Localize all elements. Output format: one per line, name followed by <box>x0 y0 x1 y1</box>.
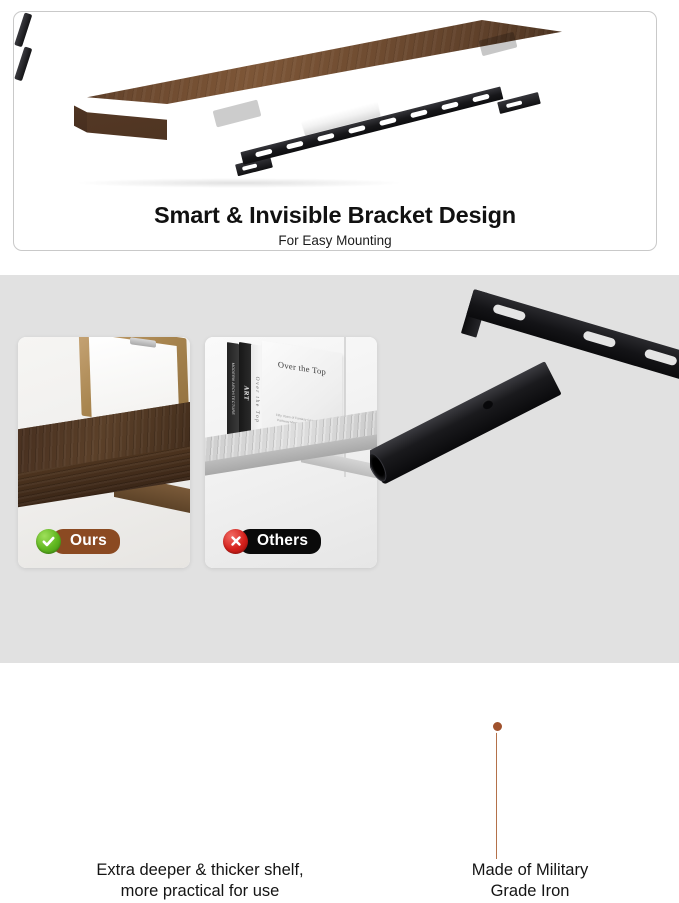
ours-badge: Ours <box>36 529 120 554</box>
comparison-card-others: MODERN ARCHITECTURE ART Over the Top Ove… <box>205 337 377 568</box>
callout-dot-icon <box>491 720 504 733</box>
features-section: Ours MODERN ARCHITECTURE ART Over the To… <box>0 275 679 663</box>
caption-right-line2: Grade Iron <box>395 881 665 902</box>
bracket-rod-screw-hole <box>481 398 495 411</box>
caption-right: Made of Military Grade Iron <box>395 860 665 903</box>
bracket-wall-plate <box>466 289 679 382</box>
hero-title: Smart & Invisible Bracket Design <box>14 202 656 229</box>
comparison-card-ours: Ours <box>18 337 190 568</box>
bracket-rod-opening <box>370 451 390 485</box>
caption-left-line2: more practical for use <box>10 881 390 902</box>
book-spine-art-text: ART <box>242 385 249 401</box>
wood-shelf <box>62 20 582 190</box>
caption-left: Extra deeper & thicker shelf, more pract… <box>10 860 390 903</box>
bracket-photo <box>370 275 679 575</box>
hero-product-photo <box>14 12 656 202</box>
hero-card: Smart & Invisible Bracket Design For Eas… <box>13 11 657 251</box>
bracket-left-leg <box>14 12 32 47</box>
book-spine-dark-text: MODERN ARCHITECTURE <box>231 363 235 416</box>
shelf-left-notch <box>213 100 262 128</box>
shelf-wood-grain <box>62 20 562 104</box>
book-spine-white-text: Over the Top <box>254 376 260 424</box>
hero-subtitle: For Easy Mounting <box>14 233 656 248</box>
ours-badge-label: Ours <box>52 529 120 554</box>
bracket-rod <box>370 361 562 485</box>
wall-edge-line <box>344 337 346 477</box>
caption-right-line1: Made of Military <box>395 860 665 881</box>
book-cover-title: Over the Top <box>262 357 342 380</box>
others-badge: Others <box>223 529 321 554</box>
callout-leader-line <box>496 731 497 859</box>
caption-left-line1: Extra deeper & thicker shelf, <box>10 860 390 881</box>
bracket-right-leg <box>14 46 32 81</box>
check-circle-icon <box>36 529 61 554</box>
hero-section: Smart & Invisible Bracket Design For Eas… <box>0 0 679 275</box>
cross-circle-icon <box>223 529 248 554</box>
others-badge-label: Others <box>239 529 321 554</box>
shelf-shadow <box>74 178 404 188</box>
